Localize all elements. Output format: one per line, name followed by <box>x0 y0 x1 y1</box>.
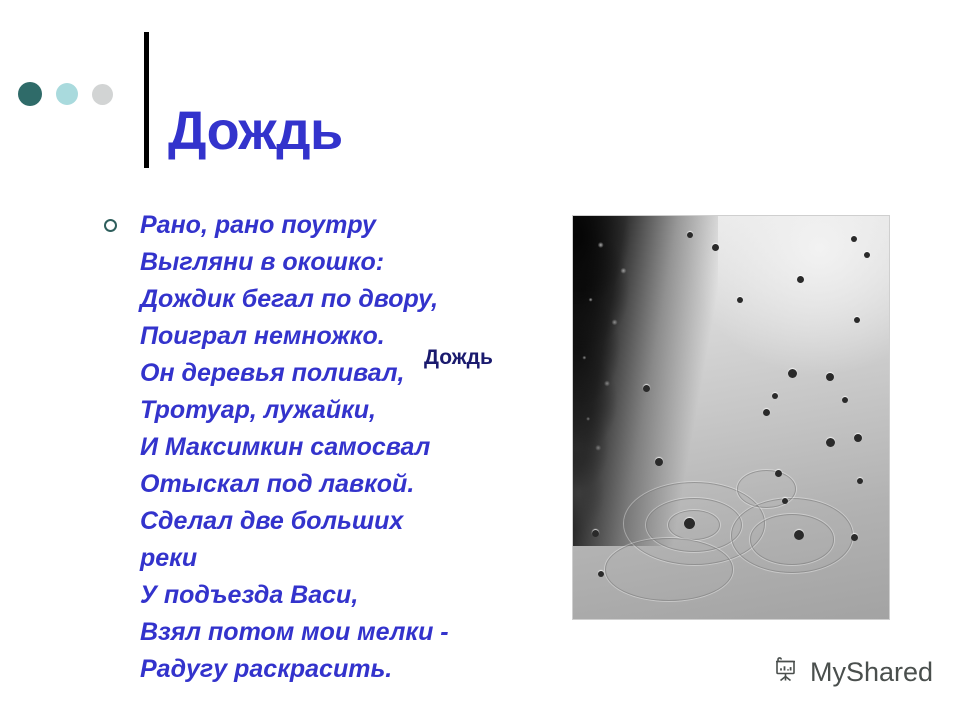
raindrop <box>737 297 743 303</box>
poem-line: Он деревья поливал, <box>140 355 570 392</box>
raindrop <box>687 232 693 238</box>
poem-line: У подъезда Васи, <box>140 577 570 614</box>
water-ripple <box>605 538 733 600</box>
rain-puddle-photo <box>572 215 890 620</box>
title-vertical-rule <box>144 32 149 168</box>
hollow-circle-bullet-icon <box>104 219 117 232</box>
poem-line: Поиграл немножко. <box>140 318 570 355</box>
circle-light-cyan-icon <box>56 83 78 105</box>
water-ripple <box>750 514 834 564</box>
page-title: Дождь <box>168 104 343 158</box>
raindrop <box>598 571 604 577</box>
raindrop <box>643 385 650 392</box>
raindrop <box>864 252 870 258</box>
poem-line: Рано, рано поутру <box>140 207 570 244</box>
poem-line: Дождик бегал по двору, <box>140 281 570 318</box>
overlay-caption: Дождь <box>424 347 493 368</box>
poem-line: Отыскал под лавкой. <box>140 466 570 503</box>
poem-line: Выгляни в окошко: <box>140 244 570 281</box>
poem-line-list: Рано, рано поутру Выгляни в окошко: Дожд… <box>140 207 570 688</box>
poem-line: Взял потом мои мелки - <box>140 614 570 651</box>
watermark-label: MyShared <box>810 659 933 686</box>
raindrop <box>854 317 860 323</box>
circle-light-gray-icon <box>92 84 113 105</box>
raindrop <box>826 373 834 381</box>
poem-line: Сделал две больших <box>140 503 570 540</box>
decorative-circles <box>18 82 113 106</box>
raindrop <box>826 438 835 447</box>
raindrop <box>842 397 848 403</box>
raindrop <box>782 498 788 504</box>
presentation-board-icon <box>772 655 802 690</box>
poem-line: Радугу раскрасить. <box>140 651 570 688</box>
raindrop <box>854 434 862 442</box>
raindrop <box>788 369 797 378</box>
raindrop <box>684 518 695 529</box>
circle-dark-teal-icon <box>18 82 42 106</box>
myshared-watermark: MyShared <box>772 655 933 690</box>
poem-block: Рано, рано поутру Выгляни в окошко: Дожд… <box>100 207 570 688</box>
poem-line: реки <box>140 540 570 577</box>
poem-line: И Максимкин самосвал <box>140 429 570 466</box>
raindrop <box>655 458 663 466</box>
poem-line: Тротуар, лужайки, <box>140 392 570 429</box>
